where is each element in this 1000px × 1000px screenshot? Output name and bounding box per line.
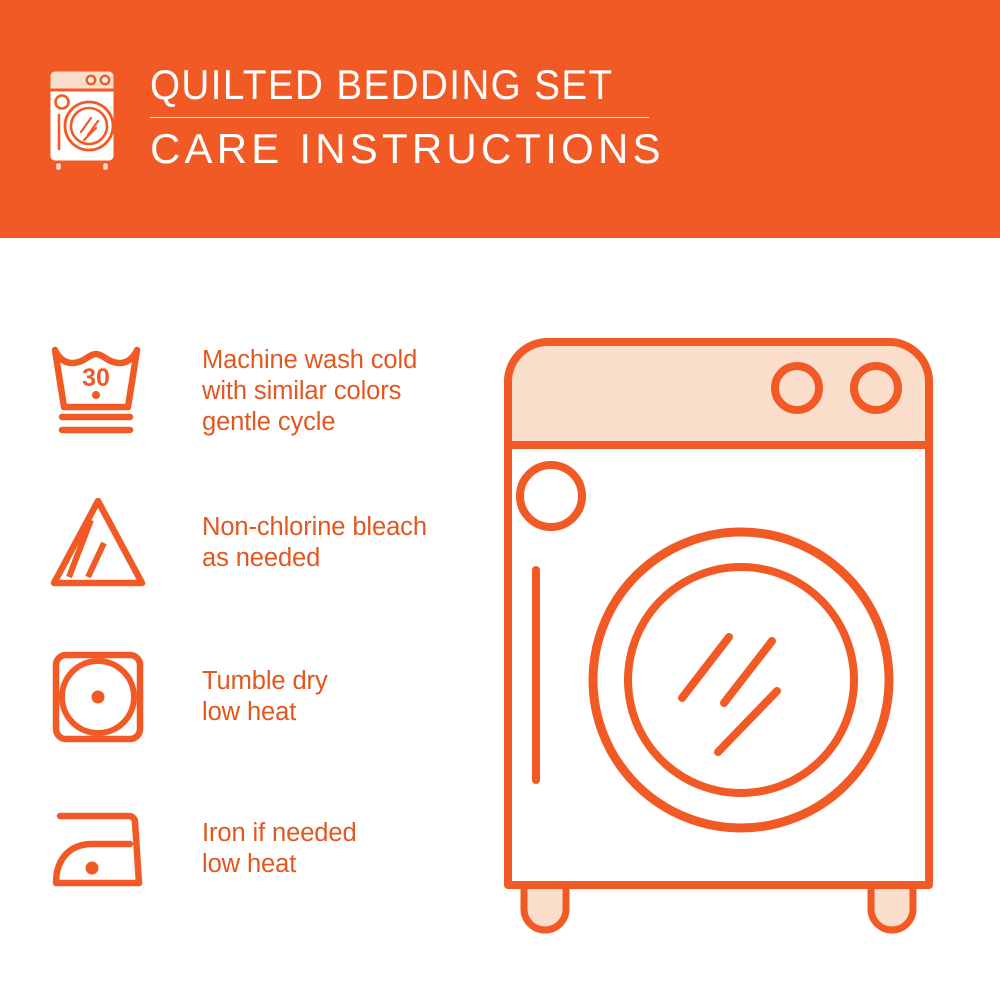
care-text: Machine wash cold with similar colors ge… <box>202 345 417 438</box>
dry-heat-dot <box>92 691 105 704</box>
care-text: Iron if needed low heat <box>202 818 357 880</box>
tumble-dry-one-dot-icon <box>46 647 150 747</box>
care-row: Non-chlorine bleach as needed <box>46 488 476 598</box>
iron-symbol <box>46 794 156 904</box>
page-subtitle: CARE INSTRUCTIONS <box>150 126 665 172</box>
wash-dot <box>92 391 100 399</box>
care-instructions-list: 30 Machine wash cold with similar colors… <box>0 238 490 1000</box>
wash-temperature-label: 30 <box>82 364 110 392</box>
wash-tub-30-gentle-icon: 30 <box>46 341 150 441</box>
care-text: Tumble dry low heat <box>202 666 328 728</box>
tumble-dry-symbol <box>46 642 156 752</box>
header-banner: QUILTED BEDDING SET CARE INSTRUCTIONS <box>0 0 1000 238</box>
indicator-light-circle <box>520 465 582 527</box>
bleach-triangle-stripes-icon <box>46 493 150 593</box>
iron-heat-dot <box>86 862 99 875</box>
non-chlorine-bleach-symbol <box>46 488 156 598</box>
iron-one-dot-icon <box>46 799 150 899</box>
header-titles: QUILTED BEDDING SET CARE INSTRUCTIONS <box>150 62 665 172</box>
knob-left[interactable] <box>775 366 819 410</box>
care-row: Iron if needed low heat <box>46 794 476 904</box>
care-text: Non-chlorine bleach as needed <box>202 512 427 574</box>
knob-right[interactable] <box>854 366 898 410</box>
machine-wash-symbol: 30 <box>46 336 156 446</box>
page-title: QUILTED BEDDING SET <box>150 62 624 108</box>
header-content: QUILTED BEDDING SET CARE INSTRUCTIONS <box>44 62 665 176</box>
care-row: 30 Machine wash cold with similar colors… <box>46 336 476 446</box>
washing-machine-illustration <box>486 320 986 950</box>
care-row: Tumble dry low heat <box>46 642 476 752</box>
washing-machine-icon <box>44 66 128 176</box>
title-divider <box>150 117 649 118</box>
